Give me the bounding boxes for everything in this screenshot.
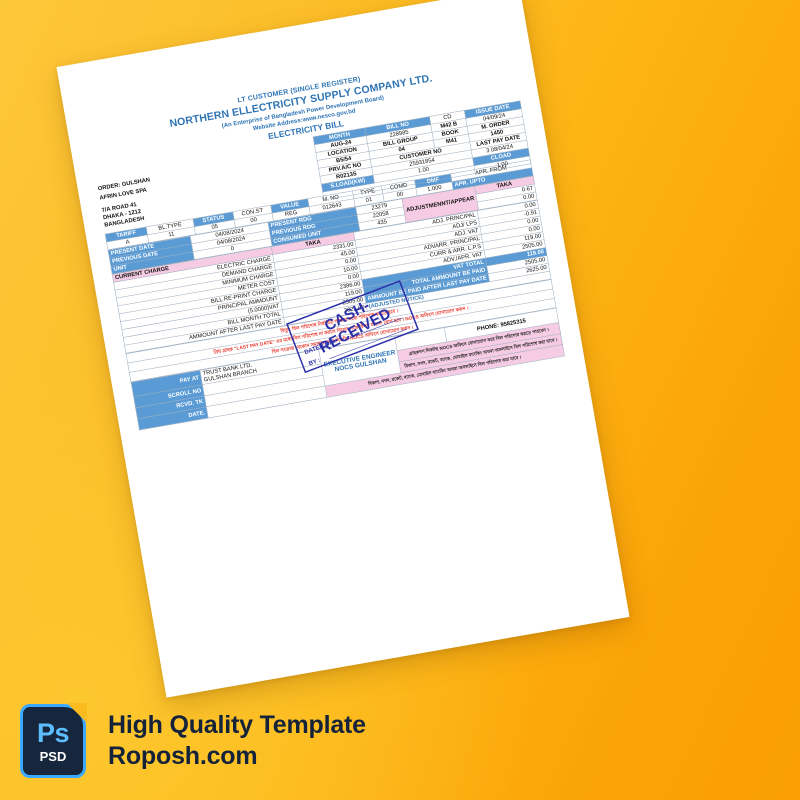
- psd-icon-ps-label: Ps: [37, 720, 69, 746]
- brand-bar: Ps PSD High Quality Template Roposh.com: [0, 682, 800, 800]
- electricity-bill-document: LT CUSTOMER (SINGLE REGISTER) NORTHERN E…: [56, 0, 583, 434]
- brand-line2: Roposh.com: [108, 741, 366, 772]
- brand-line1: High Quality Template: [108, 710, 366, 741]
- psd-icon-psd-label: PSD: [40, 749, 67, 764]
- phone-label: PHONE:: [476, 322, 499, 332]
- psd-icon-shape: Ps PSD: [20, 704, 86, 778]
- poster-canvas: LT CUSTOMER (SINGLE REGISTER) NORTHERN E…: [0, 0, 800, 800]
- bill-paper: LT CUSTOMER (SINGLE REGISTER) NORTHERN E…: [56, 0, 629, 698]
- phone-value: 95825315: [500, 318, 526, 328]
- customer-address-block: ORDER: GULSHAN AFRIN LOVE SPA 7/A ROAD 4…: [97, 176, 157, 229]
- bill-paper-rotated: LT CUSTOMER (SINGLE REGISTER) NORTHERN E…: [56, 0, 629, 698]
- brand-text-block: High Quality Template Roposh.com: [108, 710, 366, 772]
- photoshop-psd-icon: Ps PSD: [20, 704, 86, 778]
